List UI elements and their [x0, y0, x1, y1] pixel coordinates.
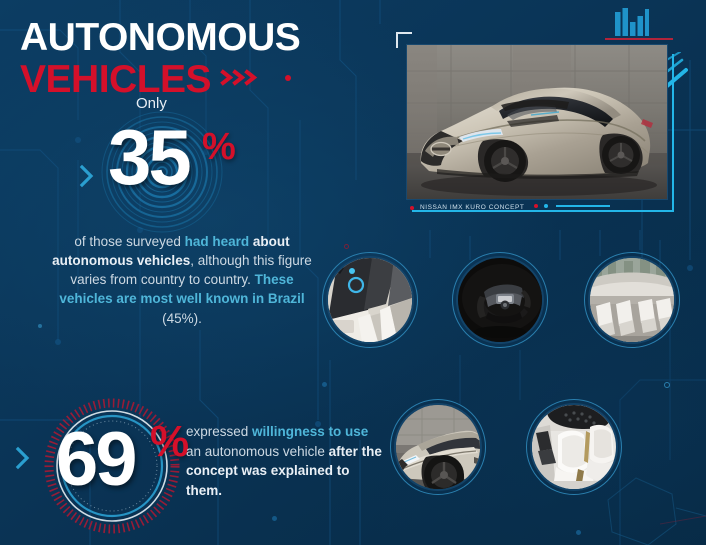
- chevrons-right-icon-svg: [220, 69, 266, 86]
- deco-dot: [272, 516, 277, 521]
- stat-35-block: 35 %: [78, 112, 318, 222]
- hero-photo-block: NISSAN IMX KURO CONCEPT: [396, 28, 684, 220]
- stat-69-description: expressed willingness to use an autonomo…: [186, 422, 382, 500]
- desc-seg-1: of those surveyed: [74, 234, 184, 249]
- stat-35-value: 35: [108, 118, 189, 196]
- chevrons-right-icon: [220, 69, 266, 86]
- desc2-seg-3: an autonomous vehicle: [186, 444, 329, 459]
- deco-dot: [322, 382, 327, 387]
- page-title: AUTONOMOUS VEHICLES: [20, 18, 420, 100]
- dot-icon: [285, 75, 291, 81]
- circle-photo-cabin[interactable]: [590, 258, 674, 342]
- cabin-photo: [590, 258, 674, 342]
- deco-dot: [344, 244, 349, 249]
- stat-69-block: 69 % expressed willingness to use an aut…: [14, 396, 374, 516]
- desc-seg-2: had heard: [185, 234, 250, 249]
- chevron-right-icon: [78, 164, 96, 188]
- circle-photo-door-panel[interactable]: [328, 258, 412, 342]
- title-line-2: VEHICLES: [20, 60, 211, 100]
- desc2-seg-2: willingness to use: [252, 424, 368, 439]
- desc-seg-6: (45%).: [162, 311, 202, 326]
- hero-caption-row: NISSAN IMX KURO CONCEPT: [410, 204, 524, 211]
- stat-35-unit: %: [202, 128, 236, 166]
- hero-photo[interactable]: [406, 44, 668, 200]
- progress-line: [556, 205, 610, 207]
- circle-photo-steering[interactable]: [458, 258, 542, 342]
- title-line-1: AUTONOMOUS: [20, 18, 420, 58]
- bullet-dot-icon: [410, 206, 414, 210]
- hero-photo-svg: [407, 45, 668, 200]
- deco-dot: [38, 324, 42, 328]
- progress-dot-cyan: [544, 204, 548, 208]
- steering-photo: [458, 258, 542, 342]
- progress-dot-red: [534, 204, 538, 208]
- stat-35-description: of those surveyed had heard about autono…: [44, 232, 320, 328]
- door-panel-photo: [328, 258, 412, 342]
- deco-dot: [576, 530, 581, 535]
- deco-dot: [664, 382, 670, 388]
- circle-photo-seats[interactable]: [532, 405, 616, 489]
- progress-indicator-icon[interactable]: [534, 204, 610, 208]
- hero-caption: NISSAN IMX KURO CONCEPT: [420, 204, 524, 211]
- stat-69-value: 69: [56, 422, 135, 498]
- circle-photo-exterior[interactable]: [396, 405, 480, 489]
- stat-69-unit: %: [150, 420, 189, 464]
- seats-photo: [532, 405, 616, 489]
- desc2-seg-1: expressed: [186, 424, 252, 439]
- chevron-right-icon: [14, 446, 32, 470]
- exterior-photo: [396, 405, 480, 489]
